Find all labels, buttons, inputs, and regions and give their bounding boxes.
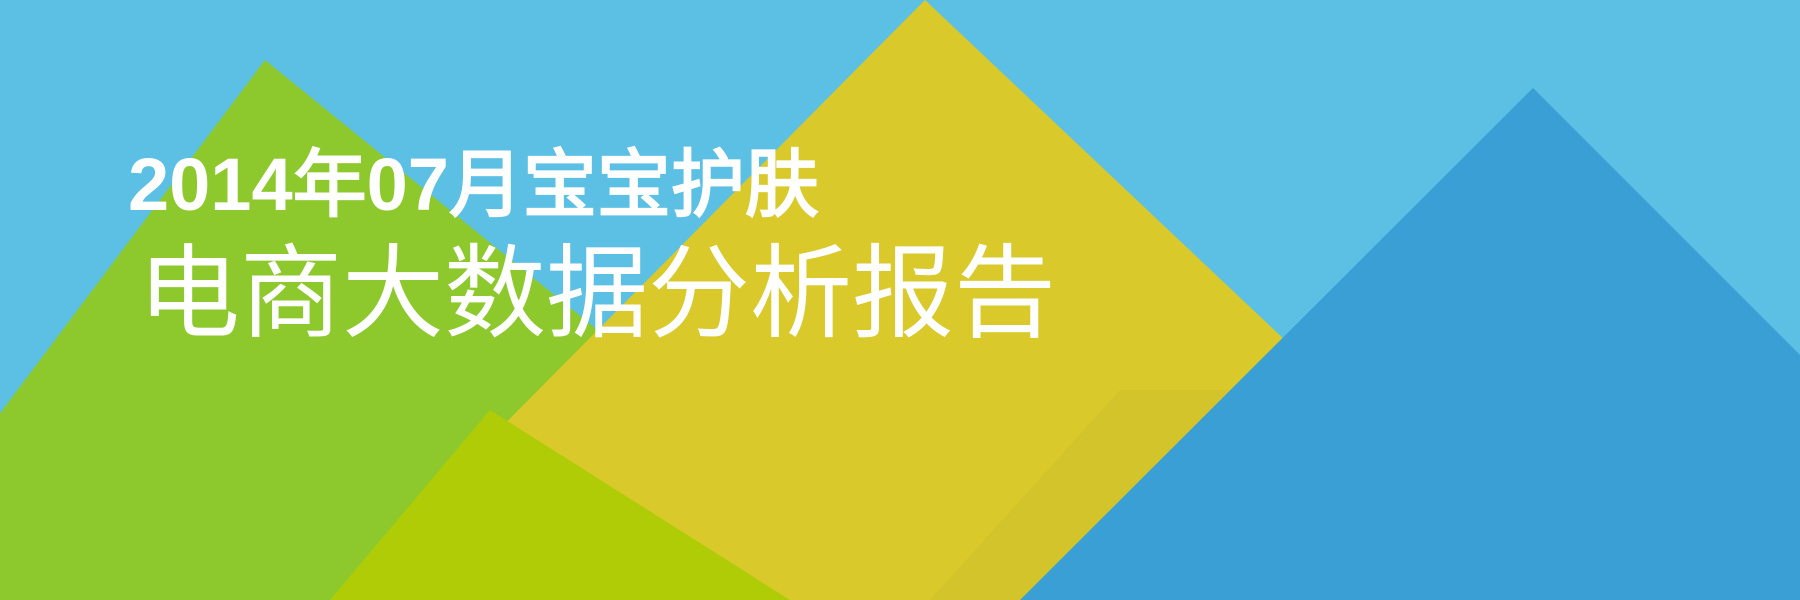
background-geometric-artwork: [0, 0, 1800, 600]
report-cover-banner: 2014年07月宝宝护肤 电商大数据分析报告: [0, 0, 1800, 600]
